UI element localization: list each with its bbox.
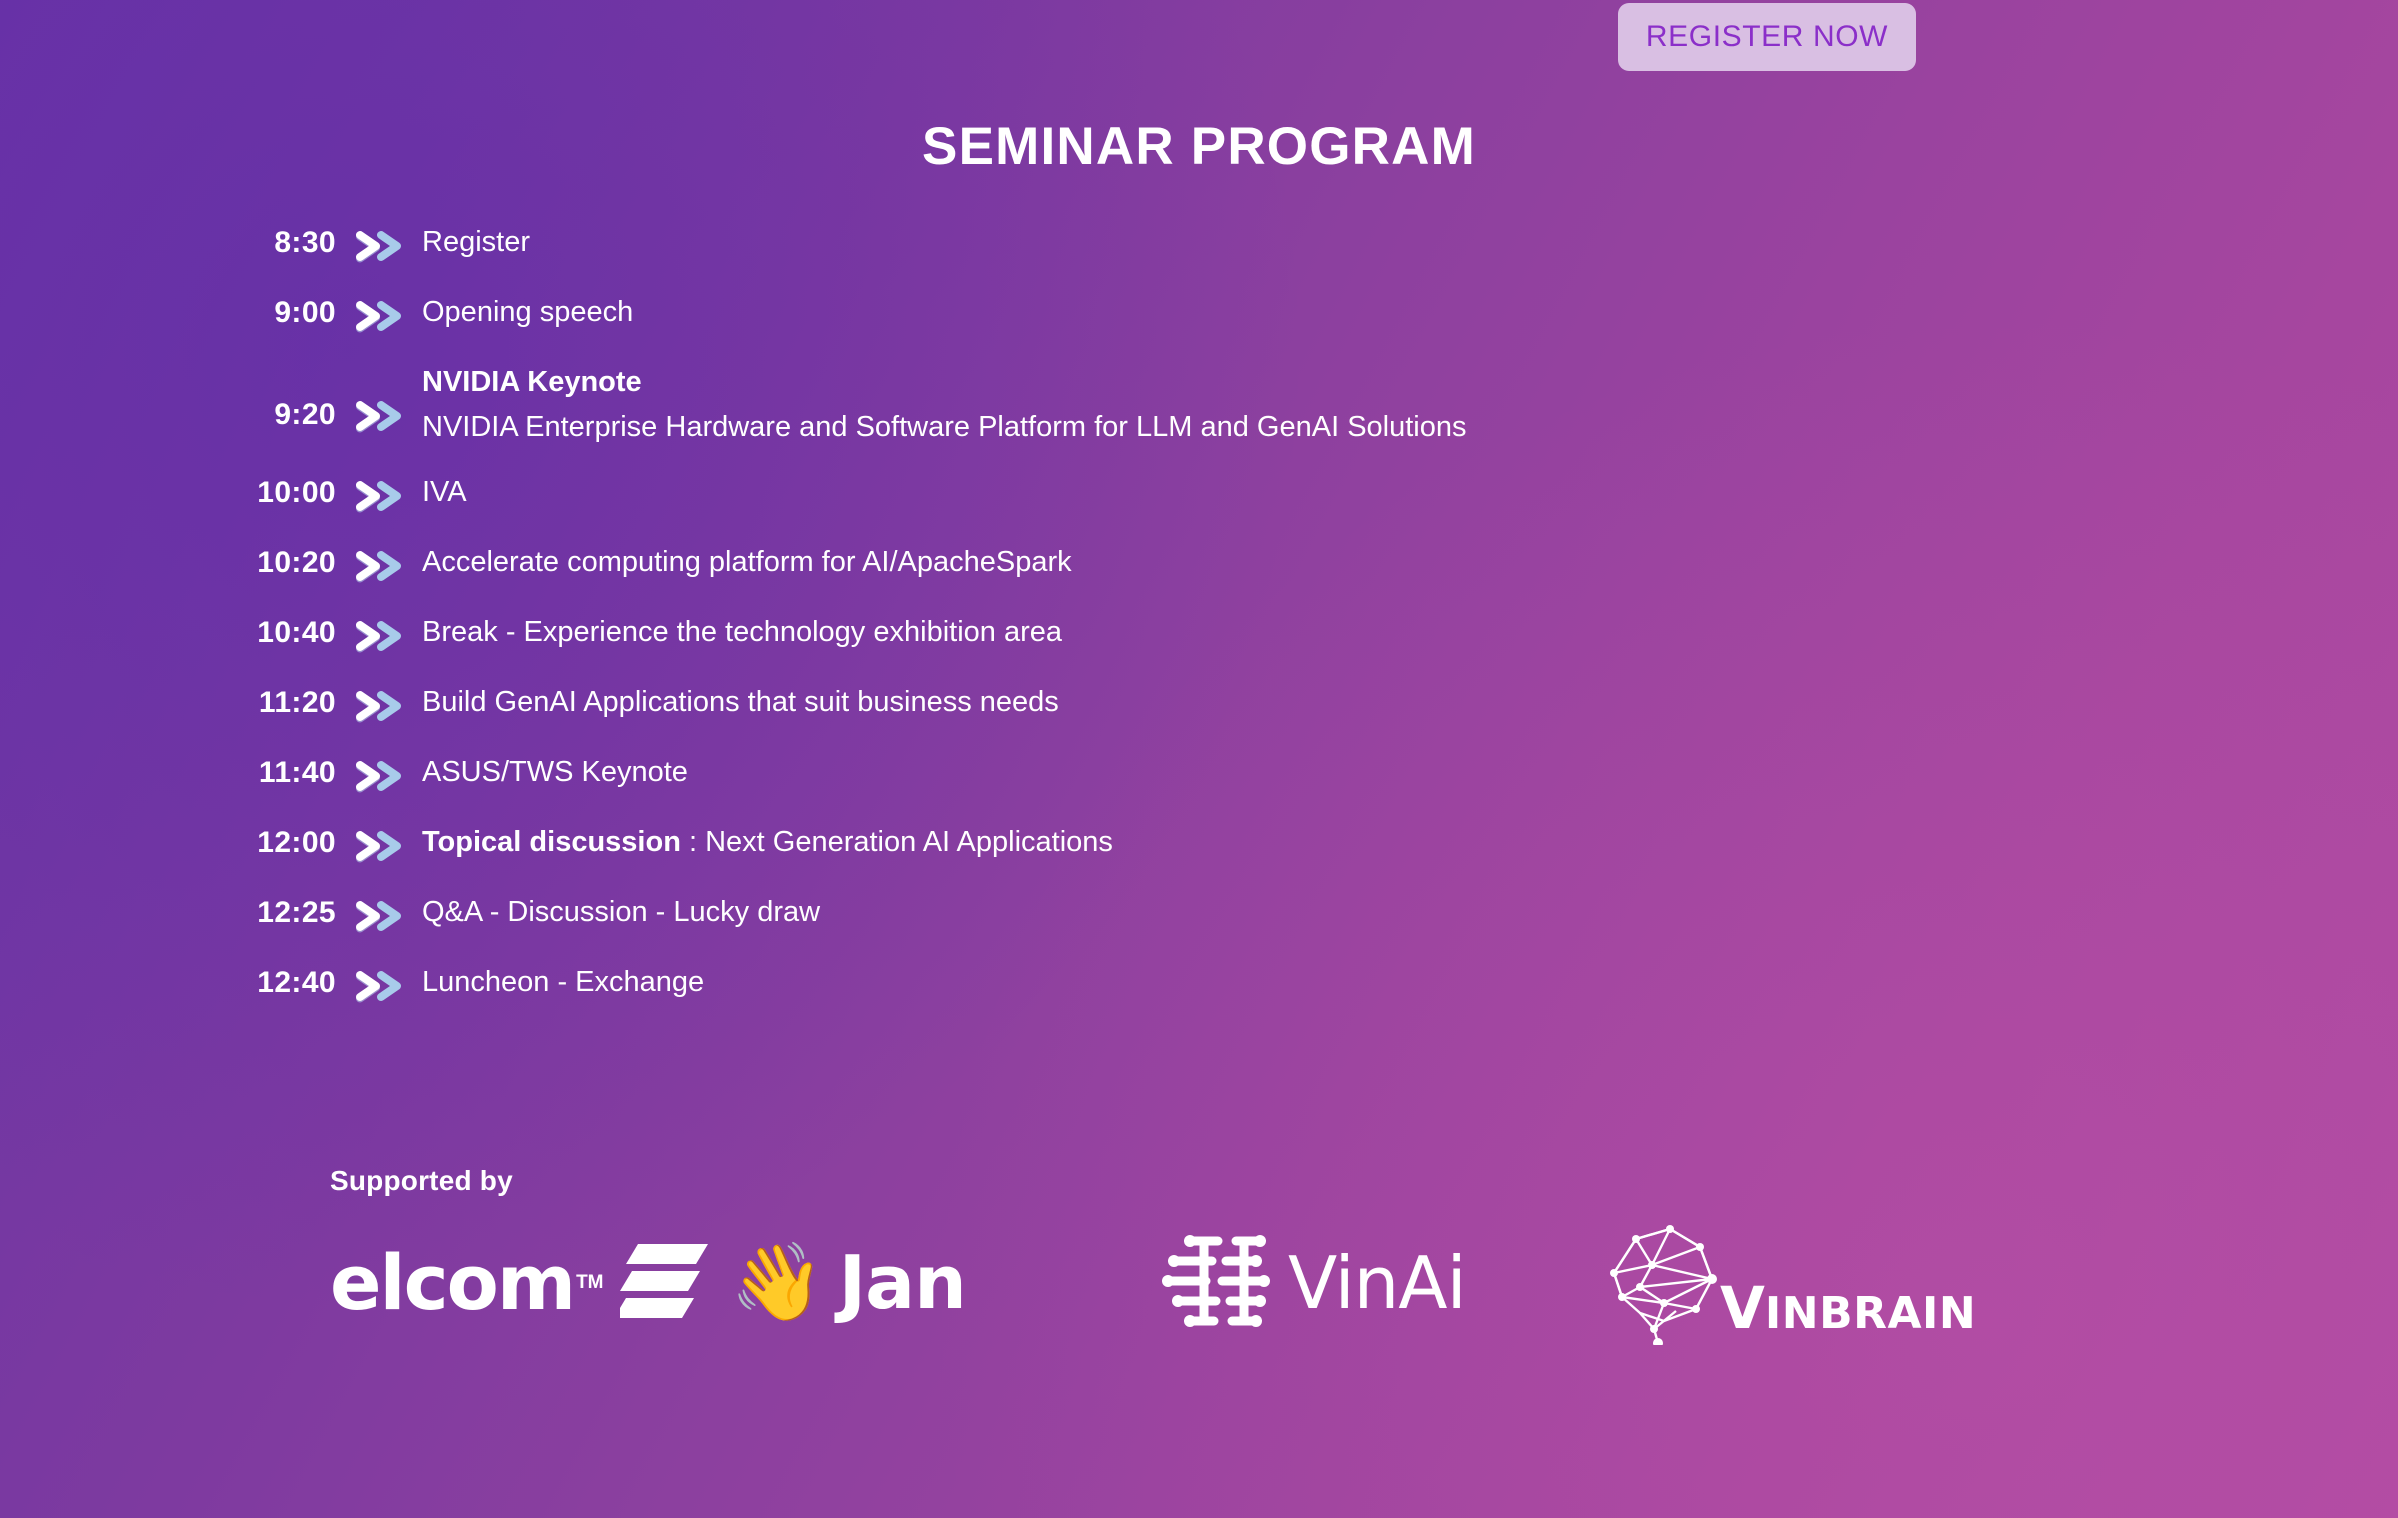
supported-by-label: Supported by — [330, 1165, 1960, 1197]
elcom-e-mark-icon — [620, 1242, 708, 1325]
schedule-row: 10:40 Break - Experience the technology … — [0, 612, 2398, 682]
schedule-row-title: Accelerate computing platform for AI/Apa… — [422, 546, 1072, 578]
double-chevron-icon — [336, 362, 422, 436]
schedule-row-body: Luncheon - Exchange — [422, 962, 2398, 1001]
double-chevron-icon — [336, 962, 422, 1006]
schedule-row: 12:00 Topical discussion : Next Generati… — [0, 822, 2398, 892]
schedule-row-body: Break - Experience the technology exhibi… — [422, 612, 2398, 651]
schedule-row-time: 9:00 — [0, 292, 336, 330]
schedule-row-subtitle: NVIDIA Enterprise Hardware and Software … — [422, 408, 2398, 446]
schedule-row-title: ASUS/TWS Keynote — [422, 756, 688, 788]
sponsor-logo-jan[interactable]: 👋 Jan — [730, 1223, 1160, 1343]
double-chevron-icon — [336, 892, 422, 936]
sponsor-logo-elcom[interactable]: elcomTM — [330, 1223, 730, 1343]
schedule-row: 10:00 IVA — [0, 472, 2398, 542]
schedule-row-title: Q&A - Discussion - Lucky draw — [422, 896, 820, 928]
double-chevron-icon — [336, 822, 422, 866]
elcom-wordmark: elcom — [330, 1245, 574, 1321]
schedule-row-time: 10:40 — [0, 612, 336, 650]
schedule-row-body: Opening speech — [422, 292, 2398, 331]
schedule-row-body: IVA — [422, 472, 2398, 511]
vinbrain-wordmark: VINBRAIN — [1720, 1279, 1976, 1337]
schedule-row: 10:20 Accelerate computing platform for … — [0, 542, 2398, 612]
schedule-list: 8:30 Register9:00 Opening speech9:20 NVI… — [0, 222, 2398, 1032]
jan-wordmark: Jan — [839, 1246, 966, 1320]
schedule-row: 12:40 Luncheon - Exchange — [0, 962, 2398, 1032]
register-now-button[interactable]: REGISTER NOW — [1618, 3, 1916, 71]
sponsor-logo-vinbrain[interactable]: VINBRAIN — [1600, 1223, 1960, 1343]
schedule-row-time: 9:20 — [0, 362, 336, 432]
vinbrain-initial: V — [1720, 1274, 1765, 1342]
vinai-wordmark: VinAi — [1288, 1247, 1466, 1319]
schedule-row-title: Break - Experience the technology exhibi… — [422, 616, 1062, 648]
schedule-row-lead: Topical discussion — [422, 826, 681, 858]
brain-network-icon — [1600, 1217, 1730, 1350]
schedule-row-title: IVA — [422, 476, 467, 508]
sponsor-logo-vinai[interactable]: VinAi — [1160, 1223, 1600, 1343]
seminar-program-page: REGISTER NOW SEMINAR PROGRAM 8:30 Regist… — [0, 0, 2398, 1518]
schedule-row-time: 12:25 — [0, 892, 336, 930]
schedule-row-lead: NVIDIA Keynote — [422, 366, 642, 398]
schedule-row-time: 8:30 — [0, 222, 336, 260]
schedule-row-body: Accelerate computing platform for AI/Apa… — [422, 542, 2398, 581]
schedule-row-time: 11:40 — [0, 752, 336, 790]
vinai-circuit-mark-icon — [1160, 1229, 1272, 1338]
double-chevron-icon — [336, 472, 422, 516]
schedule-row-time: 12:00 — [0, 822, 336, 860]
schedule-row-body: Topical discussion : Next Generation AI … — [422, 822, 2398, 861]
schedule-row: 11:40 ASUS/TWS Keynote — [0, 752, 2398, 822]
schedule-row-title: Register — [422, 226, 530, 258]
schedule-row-body: Register — [422, 222, 2398, 261]
double-chevron-icon — [336, 752, 422, 796]
page-title: SEMINAR PROGRAM — [0, 116, 2398, 177]
vinbrain-rest: INBRAIN — [1765, 1288, 1976, 1339]
schedule-row-body: NVIDIA KeynoteNVIDIA Enterprise Hardware… — [422, 362, 2398, 447]
schedule-row-time: 12:40 — [0, 962, 336, 1000]
schedule-row-time: 11:20 — [0, 682, 336, 720]
schedule-row-body: Q&A - Discussion - Lucky draw — [422, 892, 2398, 931]
schedule-row: 9:20 NVIDIA KeynoteNVIDIA Enterprise Har… — [0, 362, 2398, 472]
schedule-row-body: Build GenAI Applications that suit busin… — [422, 682, 2398, 721]
sponsor-logo-row: elcomTM 👋 Jan — [330, 1223, 1960, 1343]
schedule-row: 8:30 Register — [0, 222, 2398, 292]
schedule-row-title: : Next Generation AI Applications — [681, 826, 1113, 858]
trademark-icon: TM — [576, 1272, 603, 1294]
schedule-row: 12:25 Q&A - Discussion - Lucky draw — [0, 892, 2398, 962]
double-chevron-icon — [336, 612, 422, 656]
supporters-section: Supported by elcomTM 👋 Jan — [330, 1165, 1960, 1343]
schedule-row: 9:00 Opening speech — [0, 292, 2398, 362]
waving-hand-icon: 👋 — [730, 1245, 825, 1321]
schedule-row-time: 10:00 — [0, 472, 336, 510]
schedule-row-body: ASUS/TWS Keynote — [422, 752, 2398, 791]
double-chevron-icon — [336, 292, 422, 336]
schedule-row-title: Build GenAI Applications that suit busin… — [422, 686, 1059, 718]
double-chevron-icon — [336, 222, 422, 266]
schedule-row: 11:20 Build GenAI Applications that suit… — [0, 682, 2398, 752]
double-chevron-icon — [336, 542, 422, 586]
schedule-row-title: Luncheon - Exchange — [422, 966, 704, 998]
double-chevron-icon — [336, 682, 422, 726]
schedule-row-title: Opening speech — [422, 296, 633, 328]
schedule-row-time: 10:20 — [0, 542, 336, 580]
